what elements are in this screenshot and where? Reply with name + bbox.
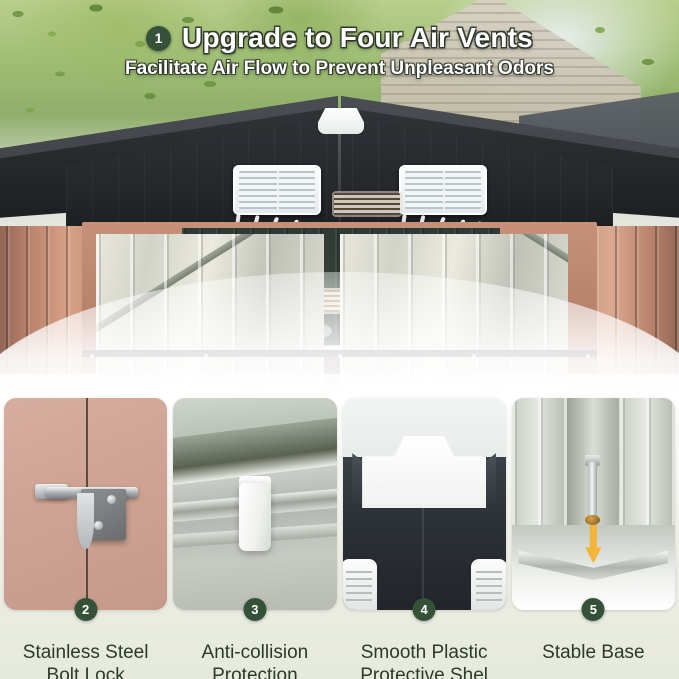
air-vent-left xyxy=(233,165,321,215)
anchor-bolt-nut xyxy=(585,515,600,526)
base-wall-left xyxy=(512,398,568,538)
feature-item-bolt-lock: 2 Stainless Steel Bolt Lock xyxy=(4,398,167,679)
badge-3: 3 xyxy=(243,598,266,621)
hero-title-block: 1 Upgrade to Four Air Vents Facilitate A… xyxy=(0,22,679,80)
stable-base-photo xyxy=(512,398,675,610)
feature-item-stable-base: 5 Stable Base xyxy=(512,398,675,679)
feature-item-anti-collision: 3 Anti-collision Protection xyxy=(173,398,336,679)
feature-caption-stable-base: Stable Base xyxy=(512,642,675,665)
feature-caption-plastic-shell: Smooth Plastic Protective Shel xyxy=(343,642,506,679)
page-subtitle: Facilitate Air Flow to Prevent Unpleasan… xyxy=(0,58,679,80)
feature-strip: 2 Stainless Steel Bolt Lock 3 Anti-colli… xyxy=(0,398,679,679)
plastic-shell-photo xyxy=(343,398,506,610)
corner-cap-left xyxy=(343,559,377,610)
plastic-bumper xyxy=(239,483,272,551)
feature-item-plastic-shell: 4 Smooth Plastic Protective Shel xyxy=(343,398,506,679)
badge-2: 2 xyxy=(74,598,97,621)
bolt-hasp xyxy=(77,493,93,548)
badge-5: 5 xyxy=(582,598,605,621)
plastic-protective-shell xyxy=(362,436,486,508)
page-title: Upgrade to Four Air Vents xyxy=(182,22,533,54)
feature-caption-bolt-lock: Stainless Steel Bolt Lock xyxy=(4,642,167,679)
hero-product-photo: 1 Upgrade to Four Air Vents Facilitate A… xyxy=(0,0,679,410)
metal-ledge xyxy=(173,417,336,486)
door-brace-right xyxy=(362,234,568,266)
feature-caption-anti-collision: Anti-collision Protection xyxy=(173,642,336,679)
ridge-cap-icon xyxy=(318,108,364,134)
badge-1: 1 xyxy=(146,26,171,51)
air-vent-right xyxy=(399,165,487,215)
base-wall-right xyxy=(620,398,676,538)
interior-gable-vent xyxy=(334,193,400,215)
infographic-root: 1 Upgrade to Four Air Vents Facilitate A… xyxy=(0,0,679,679)
anchor-bolt xyxy=(588,462,596,517)
corner-cap-right xyxy=(471,559,505,610)
bolt-lock-photo xyxy=(4,398,167,610)
badge-4: 4 xyxy=(413,598,436,621)
anti-collision-bumper-photo xyxy=(173,398,336,610)
